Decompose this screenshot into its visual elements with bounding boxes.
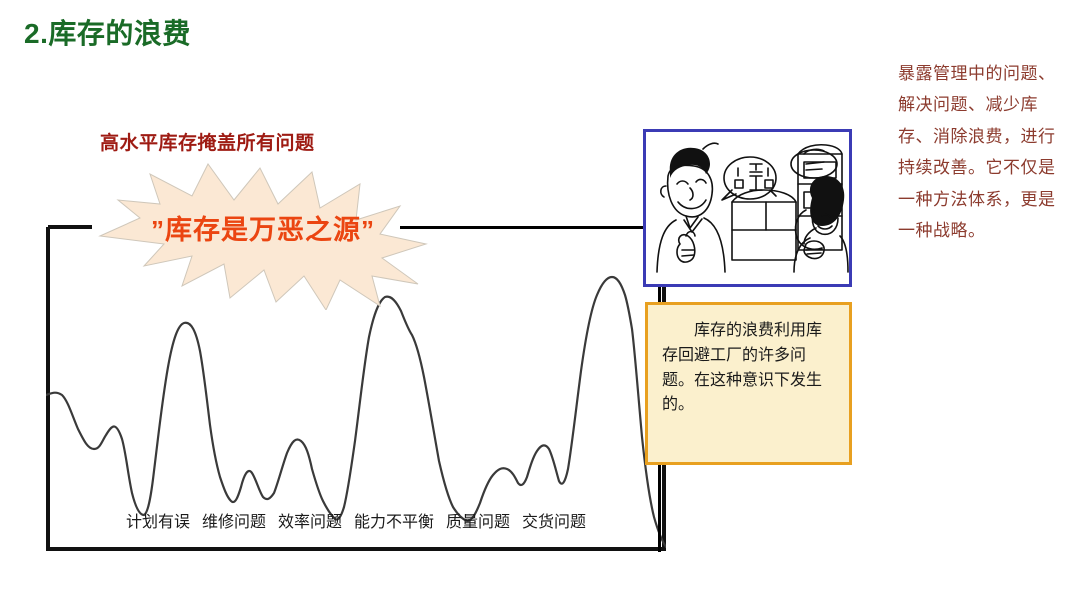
- close-quote: ”: [361, 215, 375, 245]
- category-label-3: 能力不平衡: [354, 508, 434, 532]
- right-side-note: 暴露管理中的问题、解决问题、减少库存、消除浪费，进行持续改善。它不仅是一种方法体…: [898, 58, 1068, 247]
- cartoon-drawing: [646, 132, 849, 284]
- category-label-4: 质量问题: [446, 508, 510, 532]
- starburst-main-text: 库存是万恶之源: [165, 215, 361, 245]
- section-subheading: 高水平库存掩盖所有问题: [100, 128, 315, 155]
- slide-canvas: 2.库存的浪费 高水平库存掩盖所有问题 ”库存是万恶之源” 计划有误 维修问题 …: [0, 0, 1083, 602]
- starburst-callout: ”库存是万恶之源”: [88, 160, 438, 310]
- category-label-1: 维修问题: [202, 508, 266, 532]
- category-label-5: 交货问题: [522, 508, 586, 532]
- note-text: 库存的浪费利用库存回避工厂的许多问题。在这种意识下发生的。: [662, 319, 835, 418]
- page-title: 2.库存的浪费: [24, 12, 191, 52]
- starburst-label: ”库存是万恶之源”: [88, 208, 438, 247]
- category-label-0: 计划有误: [126, 508, 190, 532]
- note-callout-box: 库存的浪费利用库存回避工厂的许多问题。在这种意识下发生的。: [645, 302, 852, 465]
- open-quote: ”: [151, 215, 165, 245]
- right-side-note-text: 暴露管理中的问题、解决问题、减少库存、消除浪费，进行持续改善。它不仅是一种方法体…: [898, 58, 1068, 247]
- connector-line-chart-to-cartoon: [400, 226, 646, 229]
- connector-line-cartoon-to-note: [658, 287, 661, 303]
- cartoon-illustration-panel: [643, 129, 852, 287]
- chart-category-labels: 计划有误 维修问题 效率问题 能力不平衡 质量问题 交货问题: [46, 508, 666, 532]
- category-label-2: 效率问题: [278, 508, 342, 532]
- connector-line-note-to-chart: [658, 464, 661, 552]
